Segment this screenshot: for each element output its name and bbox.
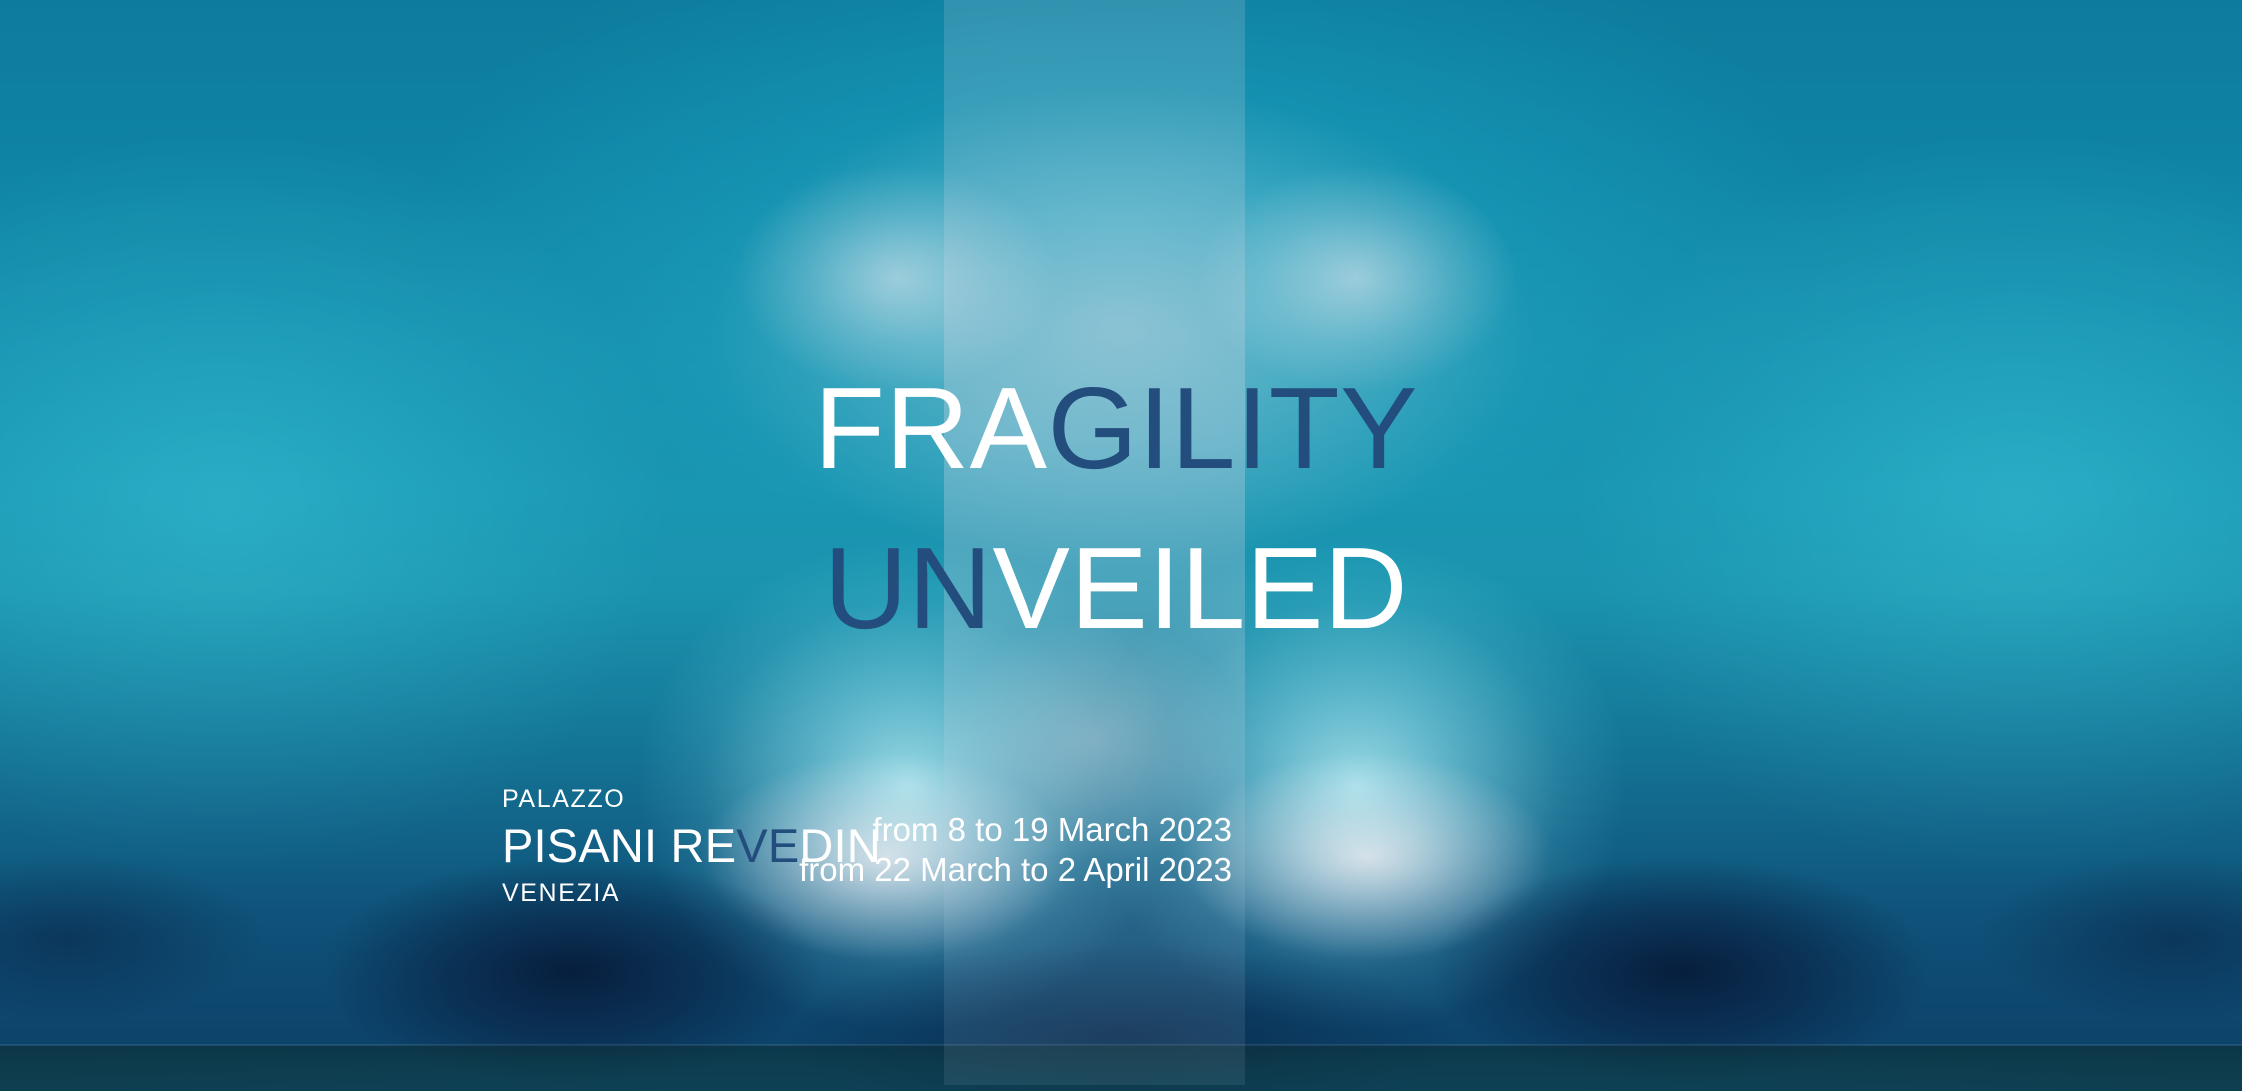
background-floor-band <box>0 1046 2242 1091</box>
headline-line-1-light: FRA <box>814 363 1048 493</box>
venue-name-part-1: PISANI RE <box>502 819 736 872</box>
background-floor-edge-line <box>0 1044 2242 1047</box>
poster-headline: FRAGILITY UNVEILED <box>0 370 2242 646</box>
headline-line-2-navy: UN <box>824 523 993 653</box>
venue-prefix: PALAZZO <box>502 787 881 812</box>
headline-line-2: UNVEILED <box>0 530 2242 646</box>
headline-line-1: FRAGILITY <box>0 370 2242 486</box>
venue-name-part-2: VE <box>736 819 799 872</box>
date-line-1: from 8 to 19 March 2023 <box>799 810 1232 850</box>
date-line-2: from 22 March to 2 April 2023 <box>799 850 1232 890</box>
exhibition-poster: FRAGILITY UNVEILED PALAZZO PISANI REVEDI… <box>0 0 2242 1091</box>
headline-line-2-light: VEILED <box>992 523 1408 653</box>
dates-block: from 8 to 19 March 2023 from 22 March to… <box>799 810 1232 891</box>
headline-line-1-navy: GILITY <box>1048 363 1418 493</box>
